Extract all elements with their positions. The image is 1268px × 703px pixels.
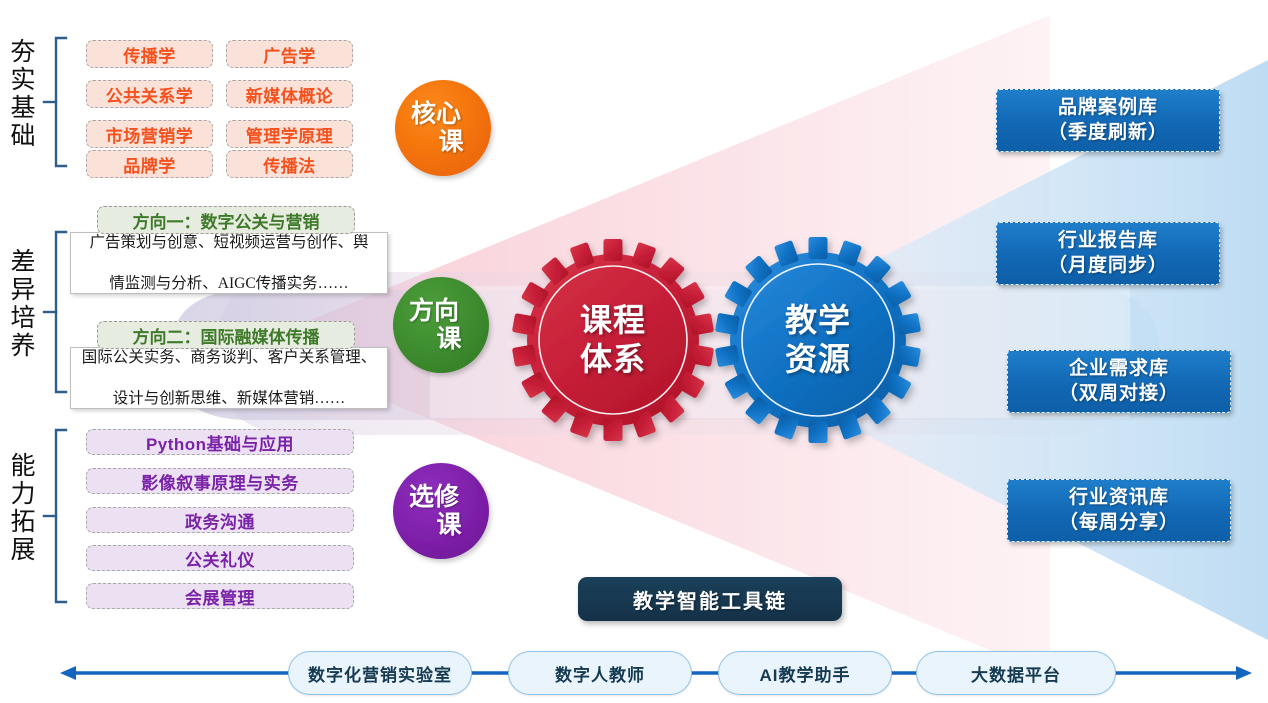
toolchain-bar[interactable]: 教学智能工具链 xyxy=(578,577,842,621)
course-chip-core[interactable]: 广告学 xyxy=(226,40,353,68)
direction-body-2: 国际公关实务、商务谈判、客户关系管理、 设计与创新思维、新媒体营销…… xyxy=(70,347,388,409)
resource-box-industry-news[interactable]: 行业资讯库 （每周分享） xyxy=(1007,479,1231,542)
badge-core-label[interactable]: 核心 课 xyxy=(395,80,491,176)
resource-cadence: （每周分享） xyxy=(1059,511,1179,535)
badge-direction-line1: 方向 xyxy=(409,297,459,325)
resource-box-industry-reports[interactable]: 行业报告库 （月度同步） xyxy=(996,222,1220,285)
resource-cadence: （双周对接） xyxy=(1059,382,1179,406)
arrow-head-left xyxy=(60,666,76,680)
badge-core-line2: 课 xyxy=(438,128,463,156)
course-chip-core[interactable]: 传播学 xyxy=(86,40,213,68)
badge-direction-label[interactable]: 方向 课 xyxy=(393,277,489,373)
badge-elective-label[interactable]: 选修 课 xyxy=(393,463,489,559)
bracket-foundation xyxy=(44,38,66,166)
platform-pill-digital-marketing-lab[interactable]: 数字化营销实验室 xyxy=(288,651,472,695)
resource-box-brand-cases[interactable]: 品牌案例库 （季度刷新） xyxy=(996,89,1220,152)
resource-title: 品牌案例库 xyxy=(1058,96,1158,120)
course-chip-elective[interactable]: Python基础与应用 xyxy=(86,429,354,455)
direction-body-line: 设计与创新思维、新媒体营销…… xyxy=(82,389,377,410)
course-chip-elective[interactable]: 公关礼仪 xyxy=(86,545,354,571)
course-chip-core[interactable]: 管理学原理 xyxy=(226,120,353,148)
course-chip-core[interactable]: 新媒体概论 xyxy=(226,80,353,108)
stage-label-capability: 能力拓展 xyxy=(6,452,40,564)
resource-title: 行业资讯库 xyxy=(1069,486,1169,510)
badge-elective-line1: 选修 xyxy=(409,483,459,511)
resource-title: 企业需求库 xyxy=(1069,357,1169,381)
direction-body-line: 情监测与分析、AIGC传播实务…… xyxy=(89,274,368,295)
diagram-canvas: 夯实基础 差异培养 能力拓展 传播学 广告学 公共关系学 新媒体概论 市场营销学… xyxy=(0,0,1268,703)
platform-pill-bigdata-platform[interactable]: 大数据平台 xyxy=(916,651,1116,695)
stage-label-differentiation: 差异培养 xyxy=(6,248,40,360)
resource-cadence: （季度刷新） xyxy=(1048,121,1168,145)
resource-title: 行业报告库 xyxy=(1058,229,1158,253)
direction-header-1: 方向一：数字公关与营销 xyxy=(97,206,355,234)
platform-pill-digital-human-teacher[interactable]: 数字人教师 xyxy=(508,651,692,695)
stage-label-foundation: 夯实基础 xyxy=(6,38,40,150)
direction-body-line: 国际公关实务、商务谈判、客户关系管理、 xyxy=(82,348,377,369)
gear-teaching-resources xyxy=(715,237,921,443)
course-chip-elective[interactable]: 影像叙事原理与实务 xyxy=(86,468,354,494)
badge-core-line1: 核心 xyxy=(411,100,461,128)
badge-direction-line2: 课 xyxy=(436,325,461,353)
direction-body-line: 广告策划与创意、短视频运营与创作、舆 xyxy=(89,233,368,254)
bracket-differentiation xyxy=(44,232,66,392)
arrow-head-right xyxy=(1236,666,1252,680)
course-chip-core[interactable]: 市场营销学 xyxy=(86,120,213,148)
course-chip-elective[interactable]: 政务沟通 xyxy=(86,507,354,533)
course-chip-core[interactable]: 公共关系学 xyxy=(86,80,213,108)
direction-body-1: 广告策划与创意、短视频运营与创作、舆 情监测与分析、AIGC传播实务…… xyxy=(70,232,388,294)
bracket-capability xyxy=(44,430,66,602)
course-chip-elective[interactable]: 会展管理 xyxy=(86,583,354,609)
course-chip-core[interactable]: 传播法 xyxy=(226,150,353,178)
direction-header-2: 方向二：国际融媒体传播 xyxy=(97,321,355,349)
badge-elective-line2: 课 xyxy=(436,511,461,539)
course-chip-core[interactable]: 品牌学 xyxy=(86,150,213,178)
gear-curriculum-system xyxy=(512,239,714,441)
resource-box-enterprise-demand[interactable]: 企业需求库 （双周对接） xyxy=(1007,350,1231,413)
platform-pill-ai-teaching-assistant[interactable]: AI教学助手 xyxy=(718,651,892,695)
resource-cadence: （月度同步） xyxy=(1048,254,1168,278)
